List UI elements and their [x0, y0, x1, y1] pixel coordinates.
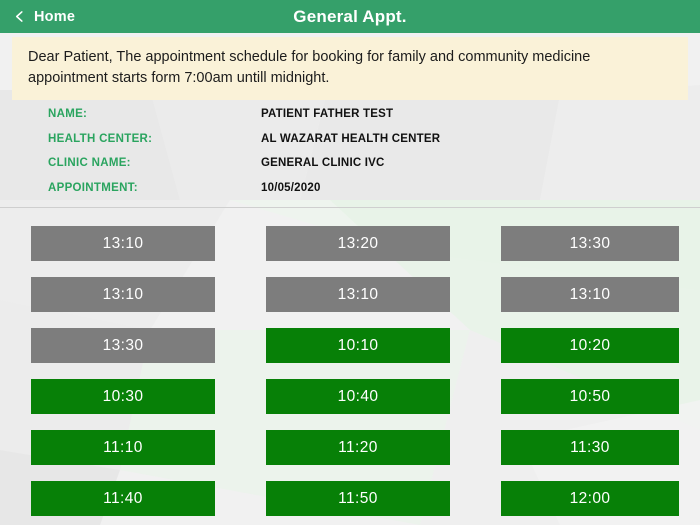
time-slot-taken: 13:10 — [31, 277, 215, 312]
time-slot-available[interactable]: 10:30 — [31, 379, 215, 414]
info-row-value: 10/05/2020 — [218, 182, 321, 194]
time-slot-available[interactable]: 11:20 — [266, 430, 450, 465]
appointment-info-panel: NAME:PATIENT FATHER TESTHEALTH CENTER:AL… — [0, 100, 700, 208]
time-slot-grid: 13:1013:2013:3013:1013:1013:1013:3010:10… — [0, 208, 700, 516]
home-back-button[interactable]: Home — [14, 0, 75, 33]
time-slot-available[interactable]: 10:50 — [501, 379, 679, 414]
time-slot-available[interactable]: 11:10 — [31, 430, 215, 465]
info-row: HEALTH CENTER:AL WAZARAT HEALTH CENTER — [0, 133, 700, 158]
info-row-value: GENERAL CLINIC IVC — [218, 157, 385, 169]
time-slot-available[interactable]: 11:40 — [31, 481, 215, 516]
info-row-label: HEALTH CENTER: — [0, 133, 218, 145]
time-slot-taken: 13:10 — [31, 226, 215, 261]
time-slot-available[interactable]: 10:40 — [266, 379, 450, 414]
top-bar: Home General Appt. — [0, 0, 700, 33]
info-row: CLINIC NAME:GENERAL CLINIC IVC — [0, 157, 700, 182]
time-slot-available[interactable]: 11:30 — [501, 430, 679, 465]
time-slot-available[interactable]: 12:00 — [501, 481, 679, 516]
time-slot-available[interactable]: 10:10 — [266, 328, 450, 363]
home-back-label: Home — [34, 9, 75, 25]
page-title: General Appt. — [293, 7, 406, 27]
info-row-value: PATIENT FATHER TEST — [218, 108, 393, 120]
info-row-list: NAME:PATIENT FATHER TESTHEALTH CENTER:AL… — [0, 108, 700, 206]
time-slot-taken: 13:20 — [266, 226, 450, 261]
time-slot-available[interactable]: 11:50 — [266, 481, 450, 516]
time-slot-taken: 13:10 — [501, 277, 679, 312]
info-row: NAME:PATIENT FATHER TEST — [0, 108, 700, 133]
time-slot-taken: 13:30 — [31, 328, 215, 363]
info-row-label: CLINIC NAME: — [0, 157, 218, 169]
notice-banner-wrapper: Dear Patient, The appointment schedule f… — [0, 33, 700, 100]
chevron-left-icon — [14, 11, 25, 22]
time-slot-taken: 13:30 — [501, 226, 679, 261]
notice-banner: Dear Patient, The appointment schedule f… — [12, 37, 688, 100]
time-slot-taken: 13:10 — [266, 277, 450, 312]
info-row-label: APPOINTMENT: — [0, 182, 218, 194]
info-row-label: NAME: — [0, 108, 218, 120]
info-row: APPOINTMENT:10/05/2020 — [0, 182, 700, 207]
info-row-value: AL WAZARAT HEALTH CENTER — [218, 133, 440, 145]
time-slot-available[interactable]: 10:20 — [501, 328, 679, 363]
